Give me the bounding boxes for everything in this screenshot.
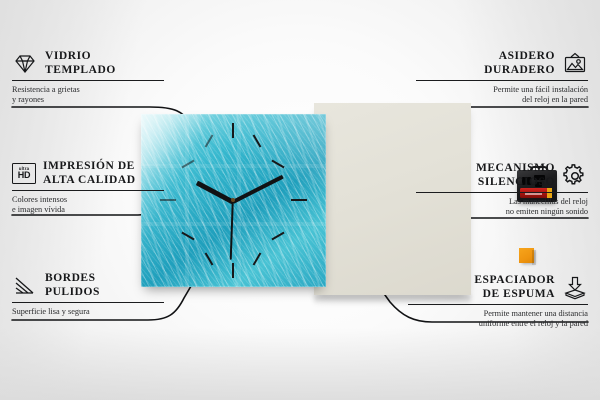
feature-description: Colores intensos e imagen vívida [12,195,164,216]
glass-wall-clock [141,114,326,287]
feature-rule [416,80,588,81]
feature-mecanismo-silencioso[interactable]: MECANISMO SILENCIOSO Las manecillas del … [416,162,588,218]
clock-tick-12 [232,123,234,138]
feature-title: IMPRESIÓN DE ALTA CALIDAD [43,160,136,187]
arrow-down-pad-icon [562,276,588,300]
feature-rule [12,190,164,191]
feature-rule [408,304,588,305]
feature-title: ASIDERO DURADERO [484,50,555,77]
feature-rule [12,302,164,303]
feature-espaciador-de-espuma[interactable]: ESPACIADOR DE ESPUMA Permite mantener un… [408,274,588,330]
feature-rule [12,80,164,81]
feature-description: Las manecillas del reloj no emiten ningú… [416,197,588,218]
feature-vidrio-templado[interactable]: VIDRIO TEMPLADO Resistencia a grietas y … [12,50,164,106]
feature-header: MECANISMO SILENCIOSO [416,162,588,189]
gear-icon [562,164,588,188]
feature-header: ASIDERO DURADERO [416,50,588,77]
feature-description: Permite mantener una distancia uniforme … [408,309,588,330]
clock-center-hub [231,198,235,202]
clock-tick-3 [291,199,307,201]
diamond-icon [12,52,38,76]
badge-text-hd: HD [18,171,31,180]
feature-bordes-pulidos[interactable]: BORDES PULIDOS Superficie lisa y segura [12,272,164,317]
feature-title: MECANISMO SILENCIOSO [476,162,555,189]
foam-spacer [519,248,534,263]
feature-asidero-duradero[interactable]: ASIDERO DURADERO Permite una fácil insta… [416,50,588,106]
clock-tick-6 [232,263,234,278]
feature-header: ultra HD IMPRESIÓN DE ALTA CALIDAD [12,160,164,187]
feature-title: BORDES PULIDOS [45,272,100,299]
hanging-frame-icon [562,52,588,76]
feature-title: VIDRIO TEMPLADO [45,50,116,77]
feature-header: BORDES PULIDOS [12,272,164,299]
feature-rule [416,192,588,193]
feature-description: Resistencia a grietas y rayones [12,85,164,106]
feature-header: ESPACIADOR DE ESPUMA [408,274,588,301]
feature-title: ESPACIADOR DE ESPUMA [474,274,555,301]
foam-spacer-shadow [532,250,536,265]
feature-impresion-alta-calidad[interactable]: ultra HD IMPRESIÓN DE ALTA CALIDAD Color… [12,160,164,216]
polished-edge-icon [12,274,38,298]
feature-header: VIDRIO TEMPLADO [12,50,164,77]
ultra-hd-badge-icon: ultra HD [12,163,36,184]
feature-description: Superficie lisa y segura [12,307,164,318]
feature-description: Permite una fácil instalación del reloj … [416,85,588,106]
infographic-canvas: VIDRIO TEMPLADO Resistencia a grietas y … [0,0,600,400]
